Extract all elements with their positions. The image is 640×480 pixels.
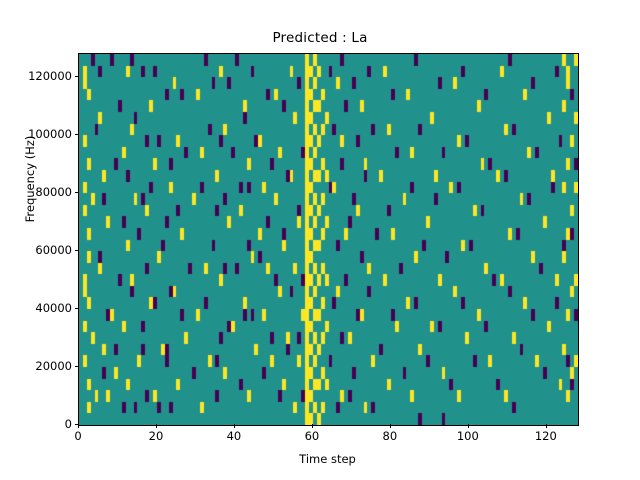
x-tick-mark: [78, 424, 79, 428]
x-tick-mark: [468, 424, 469, 428]
x-tick-mark: [390, 424, 391, 428]
x-tick-mark: [156, 424, 157, 428]
y-tick-label: 80000: [35, 185, 72, 199]
y-tick-mark: [75, 76, 79, 77]
x-tick-mark: [312, 424, 313, 428]
x-tick-label: 100: [457, 429, 479, 443]
y-tick-mark: [75, 134, 79, 135]
x-tick-label: 40: [227, 429, 242, 443]
y-tick-label: 20000: [35, 359, 72, 373]
x-tick-label: 80: [383, 429, 398, 443]
heatmap-canvas: [79, 54, 578, 425]
x-tick-label: 120: [535, 429, 557, 443]
y-tick-label: 100000: [28, 127, 72, 141]
y-tick-mark: [75, 366, 79, 367]
x-tick-label: 0: [74, 429, 81, 443]
x-tick-mark: [546, 424, 547, 428]
matplotlib-figure: Predicted : La Time step Frequency (Hz) …: [0, 0, 640, 480]
heatmap-axes: [78, 53, 579, 426]
chart-title: Predicted : La: [0, 30, 640, 46]
y-tick-mark: [75, 308, 79, 309]
x-axis-label: Time step: [78, 452, 577, 466]
y-tick-mark: [75, 250, 79, 251]
x-tick-mark: [234, 424, 235, 428]
y-tick-mark: [75, 424, 79, 425]
y-tick-label: 0: [65, 417, 72, 431]
y-tick-label: 120000: [28, 69, 72, 83]
x-tick-label: 20: [149, 429, 164, 443]
y-tick-label: 60000: [35, 243, 72, 257]
y-tick-label: 40000: [35, 301, 72, 315]
x-tick-label: 60: [305, 429, 320, 443]
y-tick-mark: [75, 192, 79, 193]
